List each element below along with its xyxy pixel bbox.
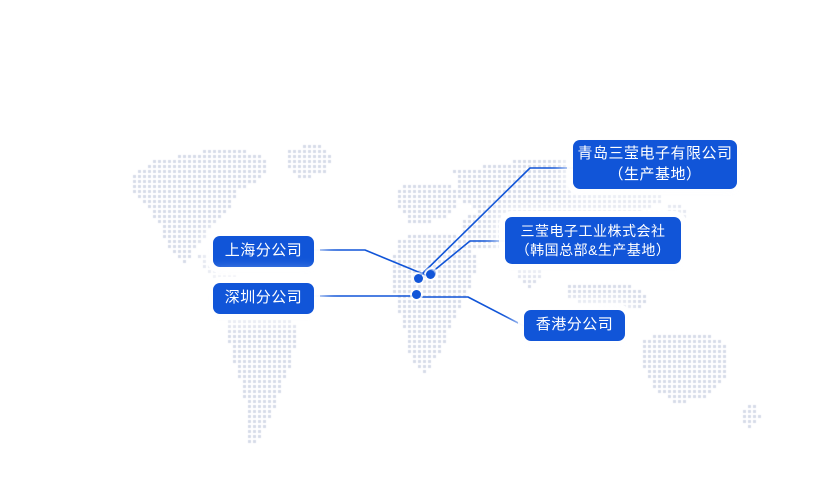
world-map-infographic: 青岛三莹电子有限公司（生产基地）三莹电子工业株式会社（韩国总部&生产基地）上海分… bbox=[0, 0, 824, 480]
label-line-primary: 香港分公司 bbox=[536, 315, 614, 335]
label-shenzhen-branch[interactable]: 深圳分公司 bbox=[213, 283, 314, 314]
map-node-shanghai[interactable] bbox=[426, 270, 435, 279]
label-line-primary: 三莹电子工业株式会社 bbox=[521, 222, 666, 241]
label-line-secondary: （韩国总部&生产基地） bbox=[516, 241, 671, 260]
label-qingdao[interactable]: 青岛三莹电子有限公司（生产基地） bbox=[573, 140, 737, 189]
label-line-primary: 上海分公司 bbox=[225, 241, 303, 261]
label-line-secondary: （生产基地） bbox=[608, 165, 701, 185]
map-node-qingdao[interactable] bbox=[414, 274, 423, 283]
label-hongkong-branch[interactable]: 香港分公司 bbox=[524, 310, 625, 341]
label-korea-headquarters[interactable]: 三莹电子工业株式会社（韩国总部&生产基地） bbox=[505, 217, 681, 264]
label-line-primary: 深圳分公司 bbox=[225, 288, 303, 308]
map-node-hongkong[interactable] bbox=[412, 290, 421, 299]
label-line-primary: 青岛三莹电子有限公司 bbox=[577, 144, 732, 164]
dotted-world-map bbox=[0, 0, 824, 480]
label-shanghai-branch[interactable]: 上海分公司 bbox=[213, 236, 314, 267]
